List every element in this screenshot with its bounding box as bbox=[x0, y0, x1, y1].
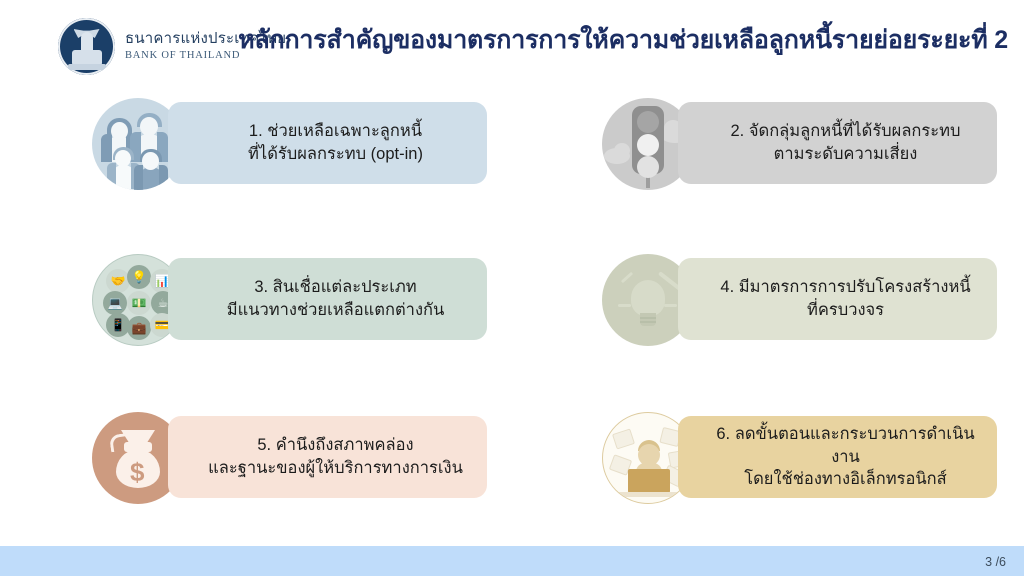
principle-card-6[interactable]: 6. ลดขั้นตอนและกระบวนการดำเนินงาน โดยใช้… bbox=[602, 416, 997, 498]
page-number: 3 /6 bbox=[985, 555, 1006, 569]
principle-card-1-text: 1. ช่วยเหลือเฉพาะลูกหนี้ ที่ได้รับผลกระท… bbox=[248, 120, 423, 166]
slide-root: ธนาคารแห่งประเทศไทย BANK OF THAILAND หลั… bbox=[0, 0, 1024, 576]
principle-card-5[interactable]: $ 5. คำนึงถึงสภาพคล่อง และฐานะของผู้ให้บ… bbox=[92, 416, 487, 498]
principle-card-4[interactable]: 4. มีมาตรการการปรับโครงสร้างหนี้ ที่ครบว… bbox=[602, 258, 997, 340]
handshake-icon: 🤝 bbox=[106, 269, 130, 293]
principle-card-6-text: 6. ลดขั้นตอนและกระบวนการดำเนินงาน โดยใช้… bbox=[706, 423, 985, 491]
principle-card-4-panel: 4. มีมาตรการการปรับโครงสร้างหนี้ ที่ครบว… bbox=[678, 258, 997, 340]
principle-card-3[interactable]: 🤝 💡 📊 💻 💵 ☕ 📱 💼 💳 3. สินเชื่อแต่ละประเภท… bbox=[92, 258, 487, 340]
principle-card-2[interactable]: 2. จัดกลุ่มลูกหนี้ที่ได้รับผลกระทบ ตามระ… bbox=[602, 102, 997, 184]
slide-header: ธนาคารแห่งประเทศไทย BANK OF THAILAND หลั… bbox=[0, 0, 1024, 90]
principle-card-3-panel: 3. สินเชื่อแต่ละประเภท มีแนวทางช่วยเหลือ… bbox=[168, 258, 487, 340]
page-title: หลักการสำคัญของมาตรการการให้ความช่วยเหลื… bbox=[238, 20, 1008, 60]
principles-grid: 1. ช่วยเหลือเฉพาะลูกหนี้ ที่ได้รับผลกระท… bbox=[0, 96, 1024, 526]
footer-bar bbox=[0, 546, 1024, 576]
bot-seal-icon bbox=[58, 18, 115, 75]
seal-plinth-shape bbox=[68, 64, 106, 70]
lightbulb-icon: 💡 bbox=[127, 265, 151, 289]
principle-card-5-text: 5. คำนึงถึงสภาพคล่อง และฐานะของผู้ให้บริ… bbox=[208, 434, 463, 480]
principle-card-5-panel: 5. คำนึงถึงสภาพคล่อง และฐานะของผู้ให้บริ… bbox=[168, 416, 487, 498]
briefcase-icon: 💼 bbox=[127, 316, 151, 340]
principle-card-3-text: 3. สินเชื่อแต่ละประเภท มีแนวทางช่วยเหลือ… bbox=[227, 276, 445, 322]
principle-card-2-text: 2. จัดกลุ่มลูกหนี้ที่ได้รับผลกระทบ ตามระ… bbox=[730, 120, 960, 166]
banknotes-icon: 💵 bbox=[127, 291, 151, 315]
principle-card-6-panel: 6. ลดขั้นตอนและกระบวนการดำเนินงาน โดยใช้… bbox=[678, 416, 997, 498]
laptop-icon: 💻 bbox=[103, 291, 127, 315]
principle-card-4-text: 4. มีมาตรการการปรับโครงสร้างหนี้ ที่ครบว… bbox=[720, 276, 970, 322]
principle-card-1[interactable]: 1. ช่วยเหลือเฉพาะลูกหนี้ ที่ได้รับผลกระท… bbox=[92, 102, 487, 184]
principle-card-1-panel: 1. ช่วยเหลือเฉพาะลูกหนี้ ที่ได้รับผลกระท… bbox=[168, 102, 487, 184]
principle-card-2-panel: 2. จัดกลุ่มลูกหนี้ที่ได้รับผลกระทบ ตามระ… bbox=[678, 102, 997, 184]
seal-figure-shape bbox=[81, 32, 93, 52]
